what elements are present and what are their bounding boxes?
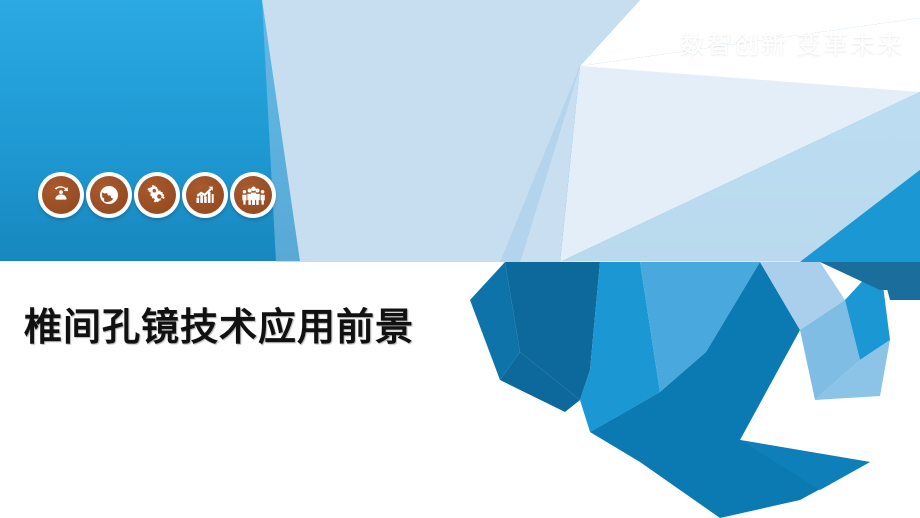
icon-row xyxy=(38,172,277,218)
slide-canvas: 数智创新 变革未来 椎间孔镜技术应用前景 xyxy=(0,0,920,518)
icon-badge-people-group[interactable] xyxy=(230,172,276,218)
people-group-icon xyxy=(234,176,272,214)
icon-badge-globe[interactable] xyxy=(86,172,132,218)
globe-icon xyxy=(90,176,128,214)
icon-badge-recycle-growth[interactable] xyxy=(38,172,84,218)
recycle-growth-icon xyxy=(42,176,80,214)
bar-chart-icon xyxy=(186,176,224,214)
low-poly-arrow-graphic xyxy=(0,0,920,518)
gears-icon xyxy=(138,176,176,214)
tagline-text: 数智创新 变革未来 xyxy=(680,25,904,61)
page-title: 椎间孔镜技术应用前景 xyxy=(24,296,414,351)
icon-badge-bar-chart[interactable] xyxy=(182,172,228,218)
icon-badge-gears[interactable] xyxy=(134,172,180,218)
poly-navy-notch-2 xyxy=(880,262,920,300)
